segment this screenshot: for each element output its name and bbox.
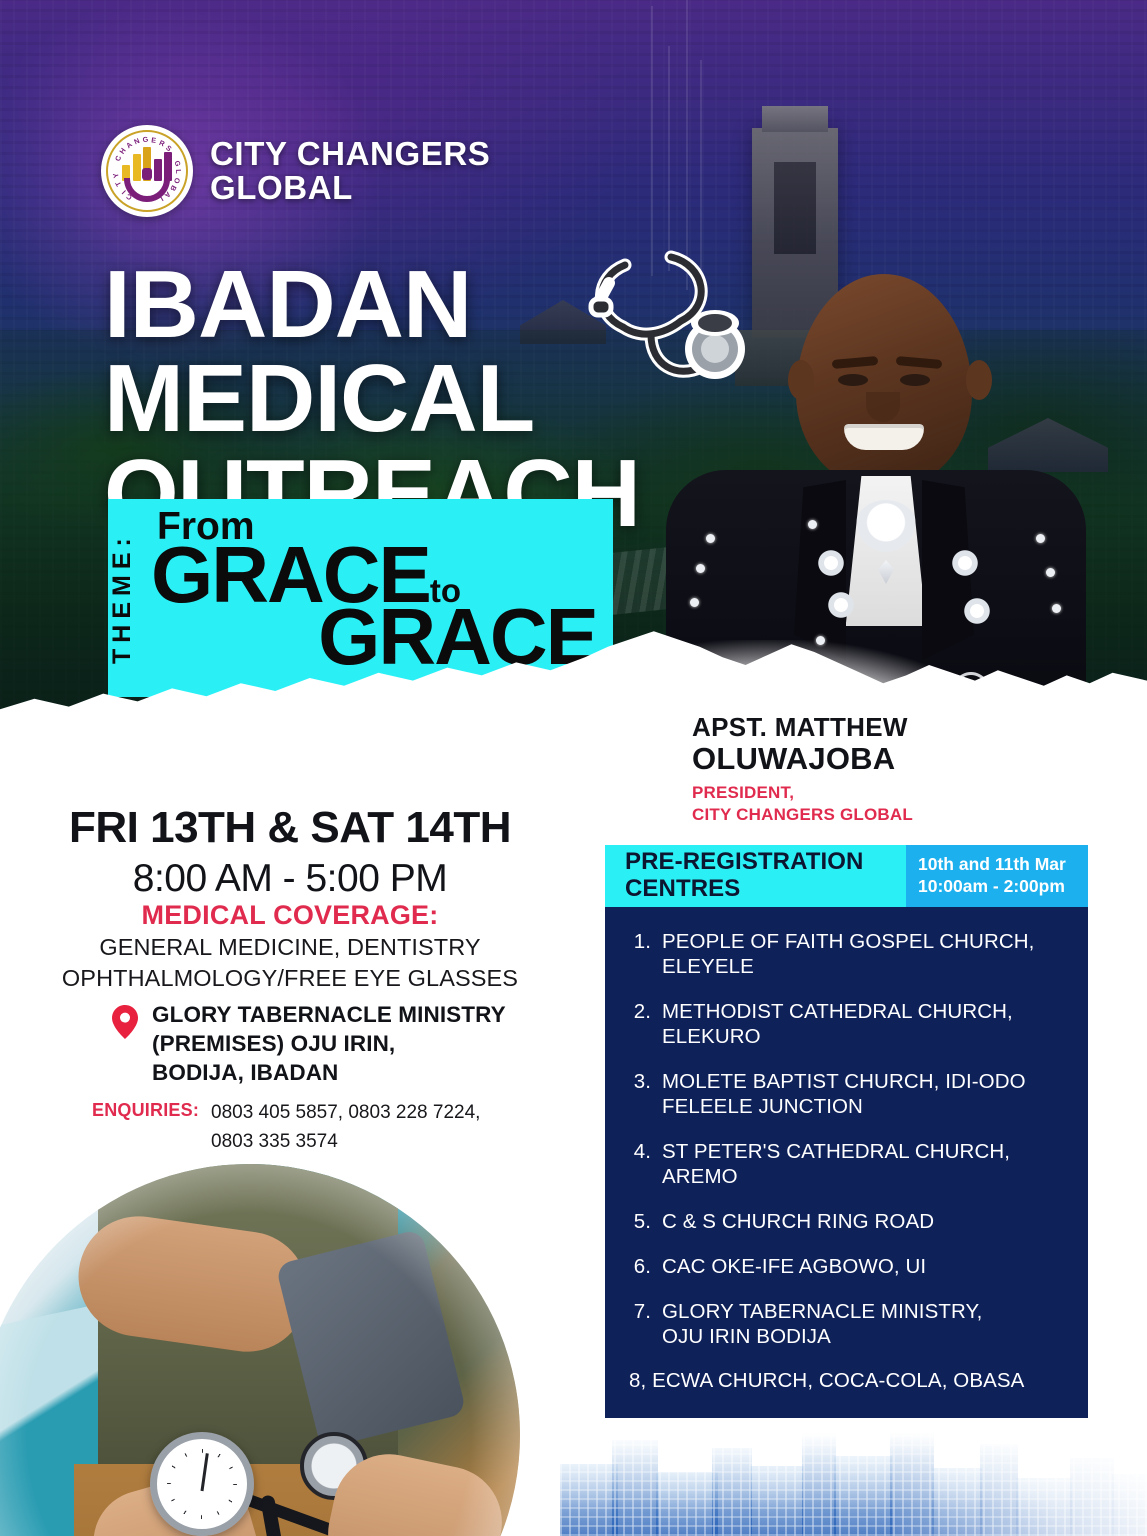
list-item-name: MOLETE BAPTIST CHURCH, IDI-ODO FELEELE J…	[662, 1069, 1070, 1119]
jacket-bead	[696, 564, 705, 573]
list-item-line1: CAC OKE-IFE AGBOWO, UI	[662, 1254, 1070, 1279]
speaker-ear	[966, 360, 992, 400]
stethoscope-icon	[585, 243, 775, 403]
list-item-line1: C & S CHURCH RING ROAD	[662, 1209, 1070, 1234]
jacket-bead	[1052, 604, 1061, 613]
list-item-line2: ELEYELE	[662, 955, 754, 978]
pre-registration-header: PRE-REGISTRATION CENTRES 10th and 11th M…	[605, 845, 1088, 907]
enquiries-label: ENQUIRIES:	[92, 1098, 199, 1121]
speaker-eye	[838, 374, 868, 386]
speaker-surname: OLUWAJOBA	[692, 742, 913, 776]
speaker-role-line2: CITY CHANGERS GLOBAL	[692, 804, 913, 826]
medical-coverage-title: MEDICAL COVERAGE:	[0, 900, 580, 931]
list-item-number: 4.	[629, 1139, 651, 1164]
list-item-number: 7.	[629, 1299, 651, 1324]
page-title: IBADAN MEDICAL OUTREACH	[104, 261, 640, 538]
logo-arc-text: CITY CHANGERS GLOBAL	[101, 125, 193, 217]
speaker-ear	[788, 360, 814, 400]
venue-line-2: (PREMISES) OJU IRIN,	[152, 1030, 506, 1059]
list-item-number: 1.	[629, 929, 651, 954]
speaker-smile	[844, 424, 924, 450]
speaker-title-name: APST. MATTHEW	[692, 713, 913, 742]
theme-content: From GRACEto GRACE	[151, 499, 613, 697]
pre-registration-dates: 10th and 11th Mar	[918, 854, 1088, 876]
list-item-line2: AREMO	[662, 1165, 738, 1188]
mast-icon	[651, 6, 653, 276]
jacket-bead	[1036, 534, 1045, 543]
list-item-last: 8, ECWA CHURCH, COCA-COLA, OBASA	[605, 1369, 1088, 1393]
jacket-embellishment	[960, 594, 994, 628]
mast-icon	[700, 60, 702, 270]
enquiries-line-2[interactable]: 0803 335 3574	[211, 1127, 480, 1156]
coverage-line-1: GENERAL MEDICINE, DENTISTRY	[0, 932, 580, 963]
list-item-line2: ELEKURO	[662, 1025, 761, 1048]
list-item: 7. GLORY TABERNACLE MINISTRY, OJU IRIN B…	[629, 1299, 1070, 1349]
list-item-line2: FELEELE JUNCTION	[662, 1095, 863, 1118]
title-line-2: MEDICAL	[104, 355, 640, 443]
list-item-number: 5.	[629, 1209, 651, 1234]
list-item-name: GLORY TABERNACLE MINISTRY, OJU IRIN BODI…	[662, 1299, 1070, 1349]
speaker-necklace	[854, 500, 918, 556]
jacket-bead	[690, 598, 699, 607]
title-line-1: IBADAN	[104, 261, 640, 349]
list-item: 3. MOLETE BAPTIST CHURCH, IDI-ODO FELEEL…	[629, 1069, 1070, 1119]
list-item-line1: GLORY TABERNACLE MINISTRY,	[662, 1300, 982, 1323]
list-item: 2. METHODIST CATHEDRAL CHURCH, ELEKURO	[629, 999, 1070, 1049]
medical-coverage-list: GENERAL MEDICINE, DENTISTRY OPHTHALMOLOG…	[0, 932, 580, 993]
blood-pressure-check-photo	[0, 1164, 520, 1536]
list-item: 4. ST PETER'S CATHEDRAL CHURCH, AREMO	[629, 1139, 1070, 1189]
jacket-bead	[808, 520, 817, 529]
speaker-role: PRESIDENT, CITY CHANGERS GLOBAL	[692, 782, 913, 826]
pre-registration-title: PRE-REGISTRATION CENTRES	[605, 845, 906, 907]
speaker-head	[796, 274, 972, 488]
registration-centre-list: 1. PEOPLE OF FAITH GOSPEL CHURCH, ELEYEL…	[605, 907, 1088, 1349]
venue-block: GLORY TABERNACLE MINISTRY (PREMISES) OJU…	[112, 1001, 582, 1087]
cityscape-fade-right	[560, 1418, 1147, 1536]
list-item-number: 3.	[629, 1069, 651, 1094]
list-item-name: METHODIST CATHEDRAL CHURCH, ELEKURO	[662, 999, 1070, 1049]
coverage-line-2: OPHTHALMOLOGY/FREE EYE GLASSES	[0, 963, 580, 994]
location-pin-icon	[112, 1005, 138, 1039]
flyer-poster: CITY CHANGERS GLOBAL CITY CHANGERS GLOBA…	[0, 0, 1147, 1536]
jacket-embellishment	[814, 546, 848, 580]
photo-vignette	[0, 1164, 520, 1536]
pre-registration-title-line1: PRE-REGISTRATION	[625, 849, 864, 876]
list-item-line1: PEOPLE OF FAITH GOSPEL CHURCH,	[662, 930, 1034, 953]
mast-icon	[668, 46, 670, 271]
jacket-embellishment	[948, 546, 982, 580]
event-times: 8:00 AM - 5:00 PM	[0, 857, 580, 901]
list-item-line1: ST PETER'S CATHEDRAL CHURCH,	[662, 1140, 1010, 1163]
list-item: 1. PEOPLE OF FAITH GOSPEL CHURCH, ELEYEL…	[629, 929, 1070, 979]
theme-vertical-label: THEME:	[108, 499, 151, 697]
list-item-name: PEOPLE OF FAITH GOSPEL CHURCH, ELEYELE	[662, 929, 1070, 979]
venue-line-1: GLORY TABERNACLE MINISTRY	[152, 1001, 506, 1030]
brand-name: CITY CHANGERS GLOBAL	[210, 137, 490, 206]
event-dates: FRI 13TH & SAT 14TH	[0, 803, 580, 853]
pre-registration-schedule: 10th and 11th Mar 10:00am - 2:00pm	[906, 845, 1088, 907]
cityscape-silhouette	[560, 1418, 1147, 1536]
city-changers-global-logo-icon: CITY CHANGERS GLOBAL	[101, 125, 193, 217]
list-item-number: 6.	[629, 1254, 651, 1279]
venue-line-3: BODIJA, IBADAN	[152, 1059, 506, 1088]
pre-registration-panel: 1. PEOPLE OF FAITH GOSPEL CHURCH, ELEYEL…	[605, 907, 1088, 1431]
pre-registration-times: 10:00am - 2:00pm	[918, 876, 1088, 898]
brand-logo-row: CITY CHANGERS GLOBAL CITY CHANGERS GLOBA…	[101, 125, 490, 217]
speaker-role-line1: PRESIDENT,	[692, 782, 913, 804]
pre-registration-title-line2: CENTRES	[625, 876, 864, 903]
enquiries-block: ENQUIRIES: 0803 405 5857, 0803 228 7224,…	[92, 1098, 562, 1157]
list-item: 5. C & S CHURCH RING ROAD	[629, 1209, 1070, 1234]
speaker-eye	[900, 374, 930, 386]
jacket-embellishment	[824, 588, 858, 622]
venue-address: GLORY TABERNACLE MINISTRY (PREMISES) OJU…	[152, 1001, 506, 1087]
brand-name-line1: CITY CHANGERS	[210, 137, 490, 171]
speaker-name-block: APST. MATTHEW OLUWAJOBA PRESIDENT, CITY …	[692, 713, 913, 826]
list-item-line1: MOLETE BAPTIST CHURCH, IDI-ODO	[662, 1070, 1026, 1093]
brand-name-line2: GLOBAL	[210, 171, 490, 205]
list-item-number: 2.	[629, 999, 651, 1024]
jacket-bead	[816, 636, 825, 645]
list-item-name: ST PETER'S CATHEDRAL CHURCH, AREMO	[662, 1139, 1070, 1189]
enquiries-numbers: 0803 405 5857, 0803 228 7224, 0803 335 3…	[211, 1098, 480, 1157]
enquiries-line-1[interactable]: 0803 405 5857, 0803 228 7224,	[211, 1098, 480, 1127]
jacket-bead	[1046, 568, 1055, 577]
jacket-bead	[706, 534, 715, 543]
list-item-line2: OJU IRIN BODIJA	[662, 1325, 831, 1348]
list-item: 6. CAC OKE-IFE AGBOWO, UI	[629, 1254, 1070, 1279]
list-item-line1: METHODIST CATHEDRAL CHURCH,	[662, 1000, 1013, 1023]
